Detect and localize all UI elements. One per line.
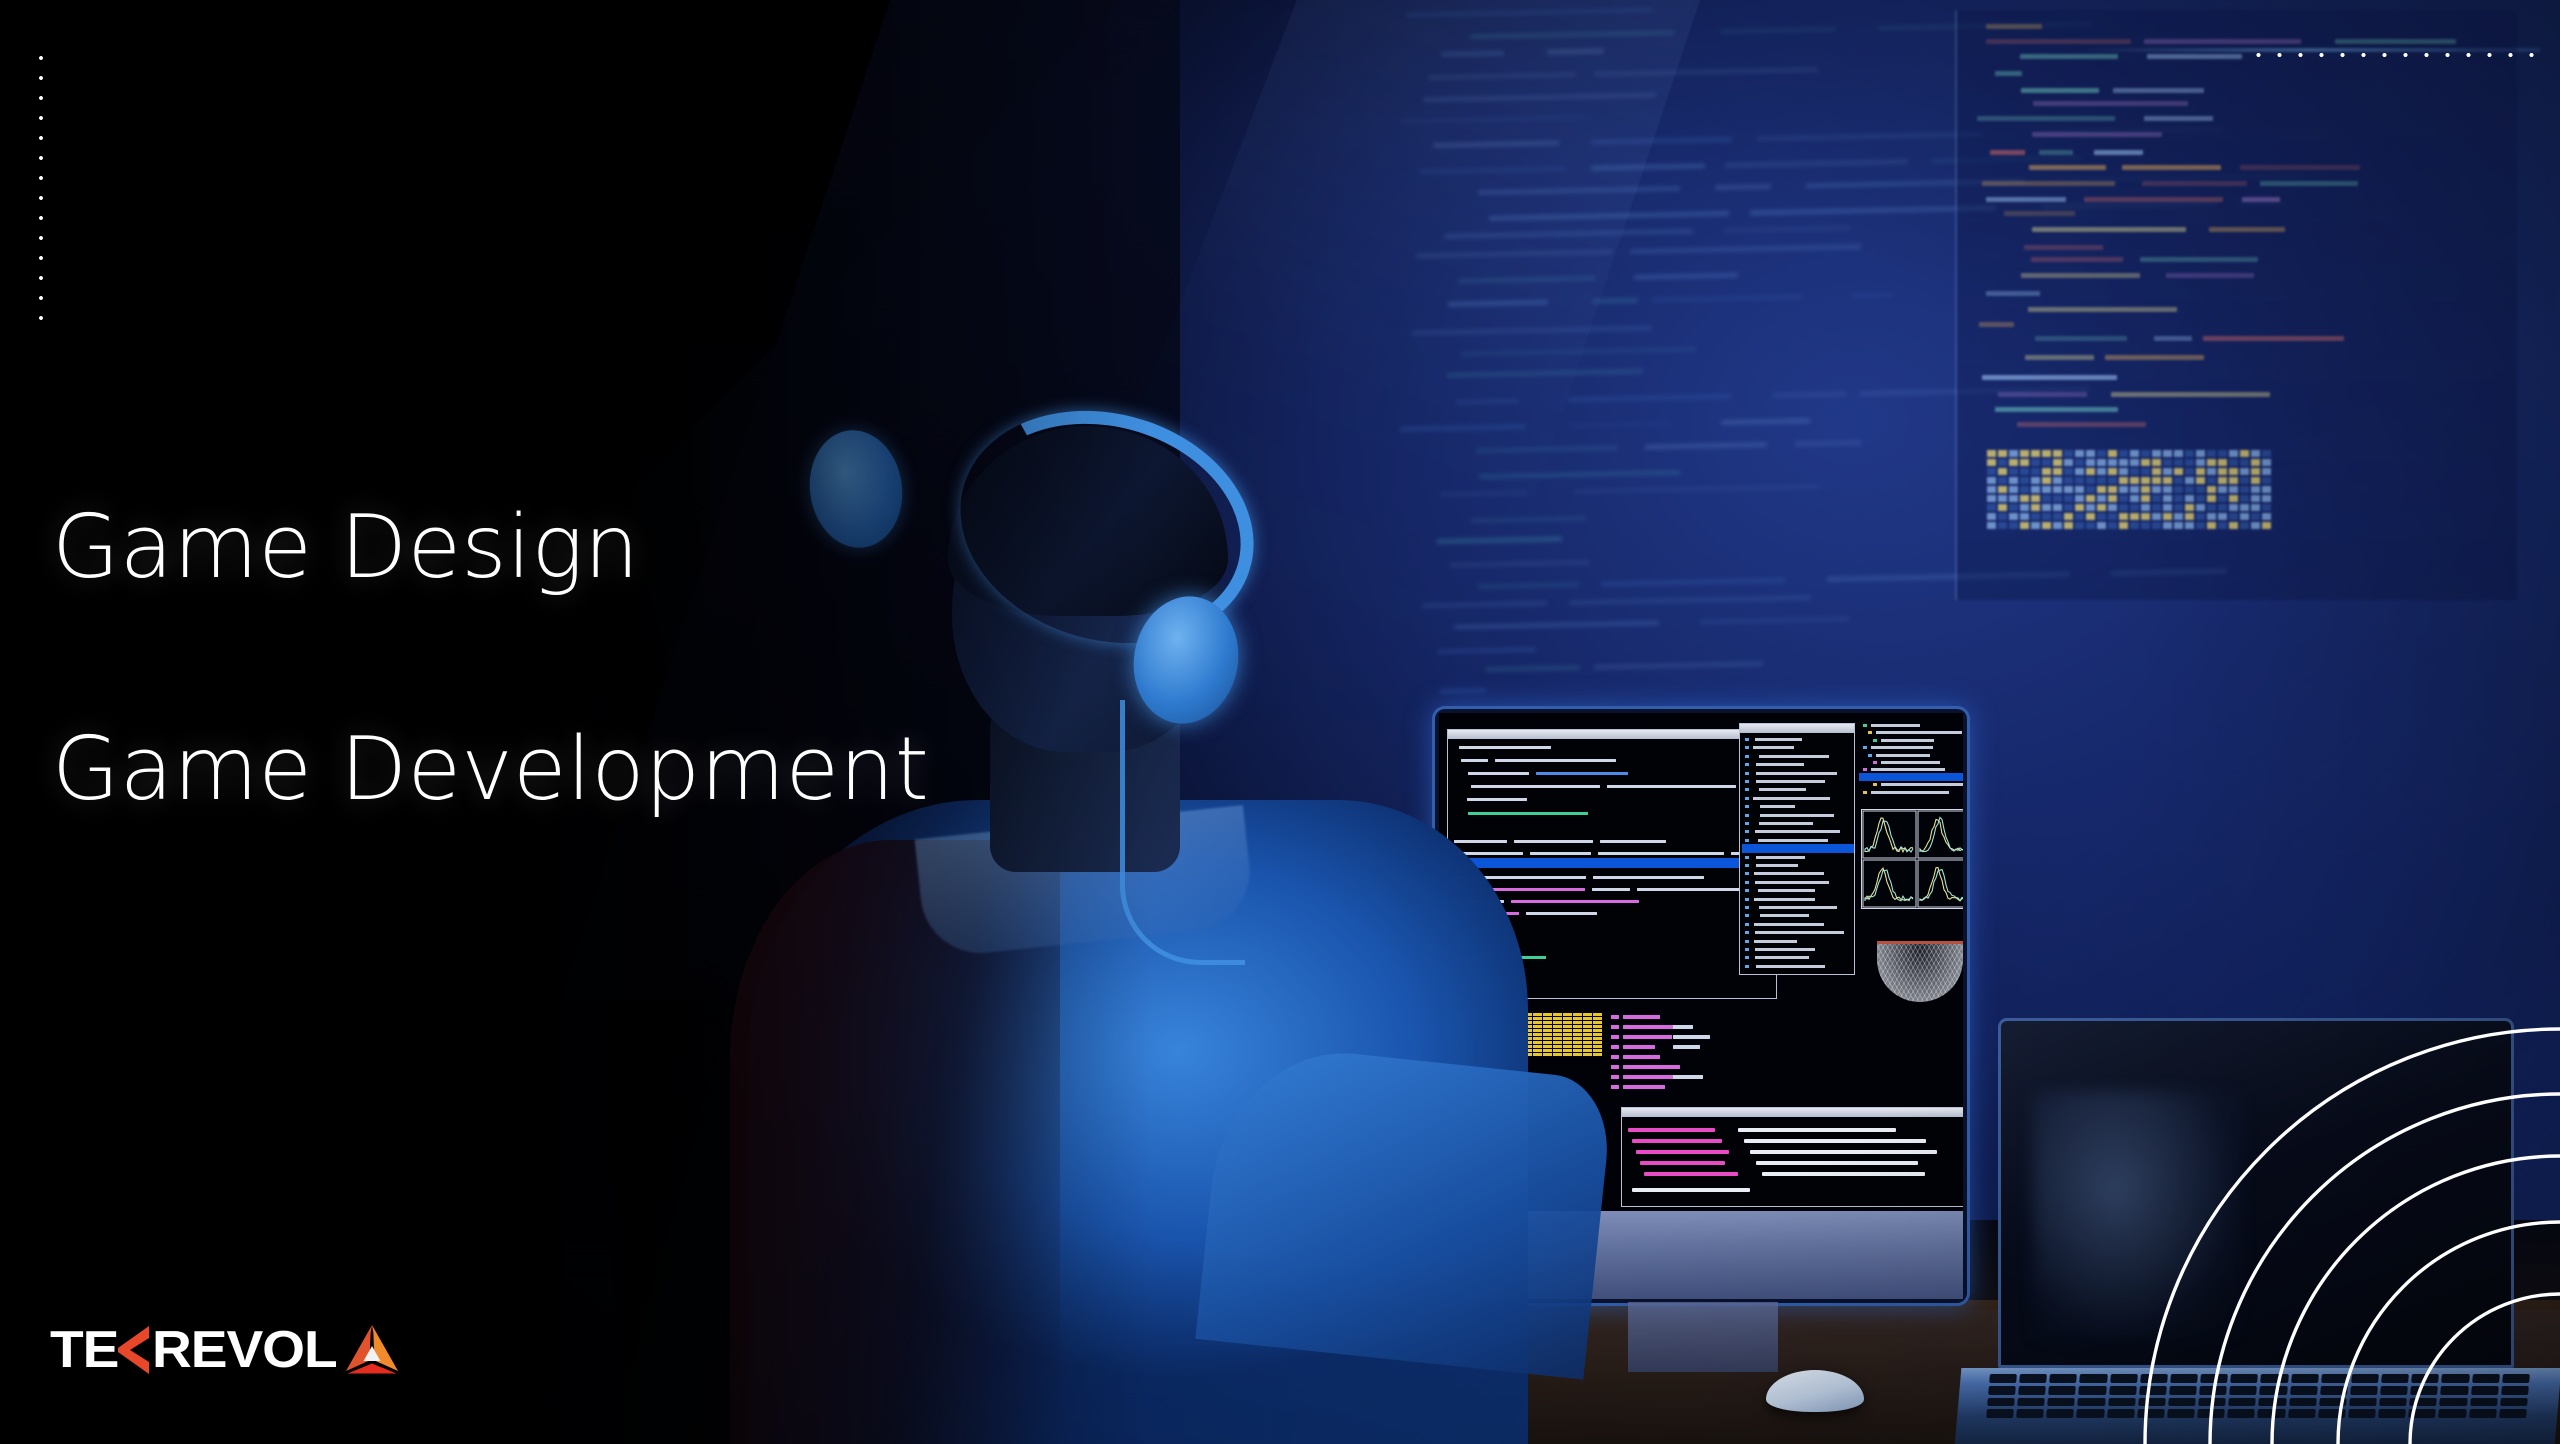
- slide-canvas: Game Design Vs. Game Development TE REVO…: [0, 0, 2560, 1444]
- tekrevol-wordmark: TE REVOL: [50, 1324, 327, 1376]
- corner-arcs-icon: [2040, 984, 2560, 1444]
- person-arm: [1195, 1040, 1614, 1379]
- headline-line-3: Game Development: [52, 722, 1152, 816]
- logo-k-chevron-icon: [116, 1325, 150, 1375]
- wall-code-panel: [1955, 10, 2517, 600]
- headline-vs: Vs.: [52, 594, 1152, 722]
- dotted-line-horizontal-icon: [2248, 49, 2534, 61]
- logo-text-part2: REVOL: [152, 1324, 337, 1376]
- tekrevol-logo[interactable]: TE REVOL: [50, 1320, 403, 1380]
- logo-text-part1: TE: [50, 1324, 118, 1376]
- tekrevol-triangle-mark-icon: [341, 1322, 403, 1378]
- headline-line-1: Game Design: [52, 500, 1152, 594]
- monitor-stand: [1628, 1302, 1778, 1372]
- headline-block: Game Design Vs. Game Development: [52, 500, 1152, 816]
- dotted-line-vertical-icon: [35, 48, 47, 324]
